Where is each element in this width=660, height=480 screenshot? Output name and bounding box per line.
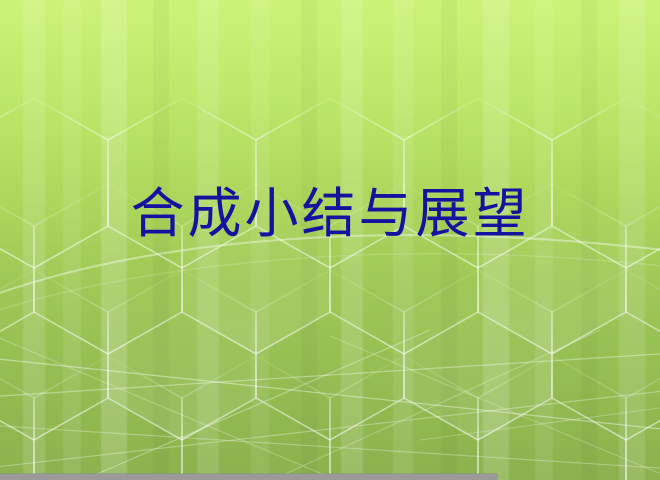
title-placeholder[interactable]: 合成小结与展望 [0,0,660,480]
footer-rule [0,474,498,480]
page-title[interactable]: 合成小结与展望 [131,183,530,245]
presentation-slide: 合成小结与展望 [0,0,660,480]
